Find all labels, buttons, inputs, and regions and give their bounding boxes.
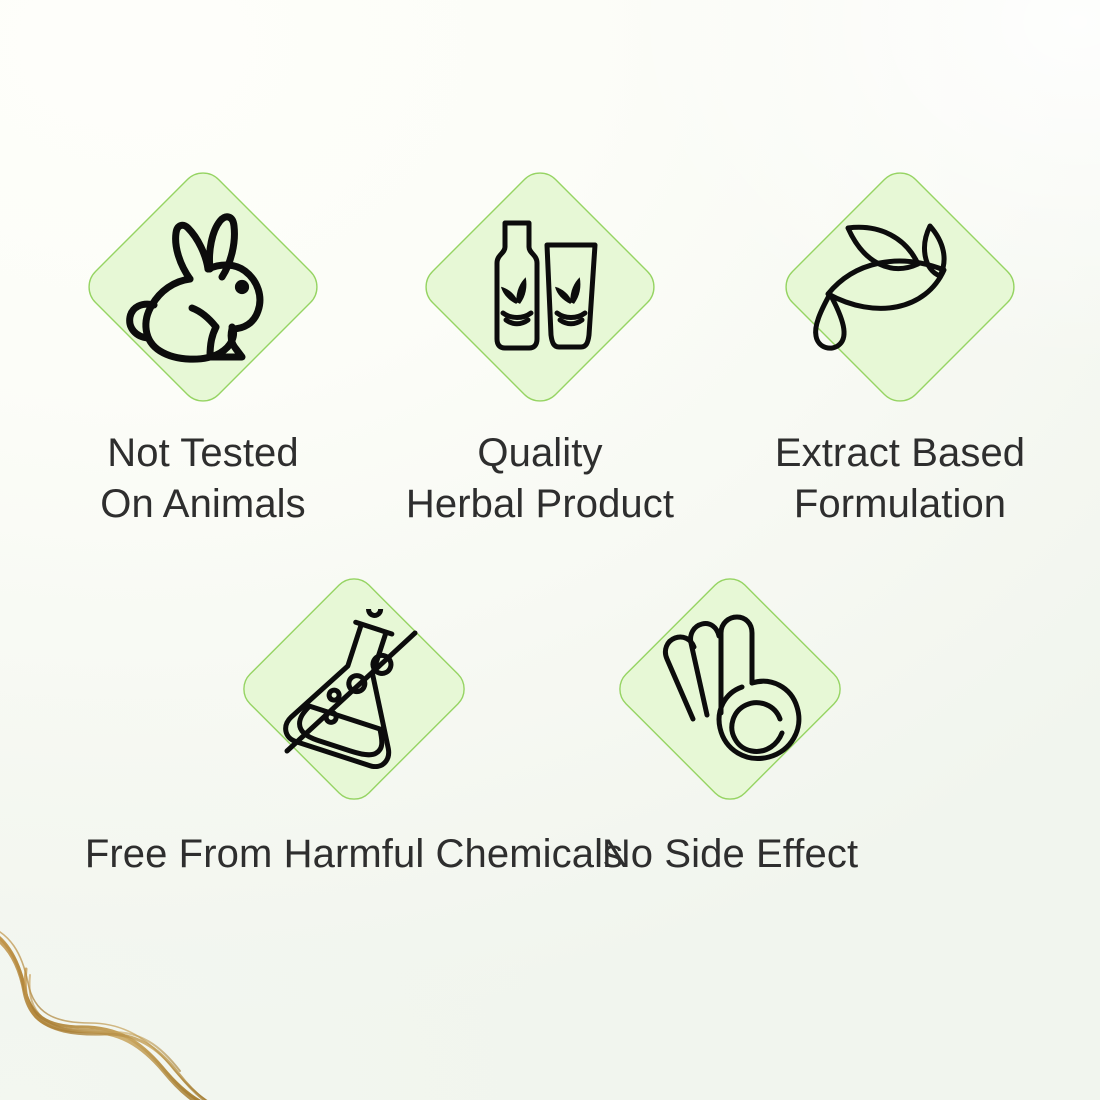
badge-quality-herbal-product[interactable]: Quality Herbal Product	[386, 148, 694, 530]
badge-label: Quality Herbal Product	[406, 428, 674, 530]
diamond-tile	[401, 148, 679, 426]
badge-not-tested-on-animals[interactable]: Not Tested On Animals	[49, 148, 357, 530]
diamond-shape	[220, 555, 488, 823]
badge-label: Extract Based Formulation	[775, 428, 1025, 530]
badge-label: Free From Harmful Chemicals	[85, 829, 623, 880]
diamond-tile	[64, 148, 342, 426]
diamond-shape	[401, 148, 679, 426]
badge-no-side-effect[interactable]: No Side Effect	[591, 555, 869, 880]
diamond-shape	[64, 148, 342, 426]
badge-extract-based-formulation[interactable]: Extract Based Formulation	[746, 148, 1054, 530]
diamond-tile	[761, 148, 1039, 426]
benefits-badge-panel: Not Tested On Animals	[0, 0, 1100, 1100]
badge-free-from-harmful-chemicals[interactable]: Free From Harmful Chemicals	[215, 555, 493, 880]
diamond-tile	[220, 555, 488, 823]
badge-label: Not Tested On Animals	[100, 428, 306, 530]
badge-label: No Side Effect	[602, 829, 858, 880]
diamond-tile	[596, 555, 864, 823]
hair-strand-decoration	[0, 905, 350, 1100]
diamond-shape	[761, 148, 1039, 426]
diamond-shape	[596, 555, 864, 823]
